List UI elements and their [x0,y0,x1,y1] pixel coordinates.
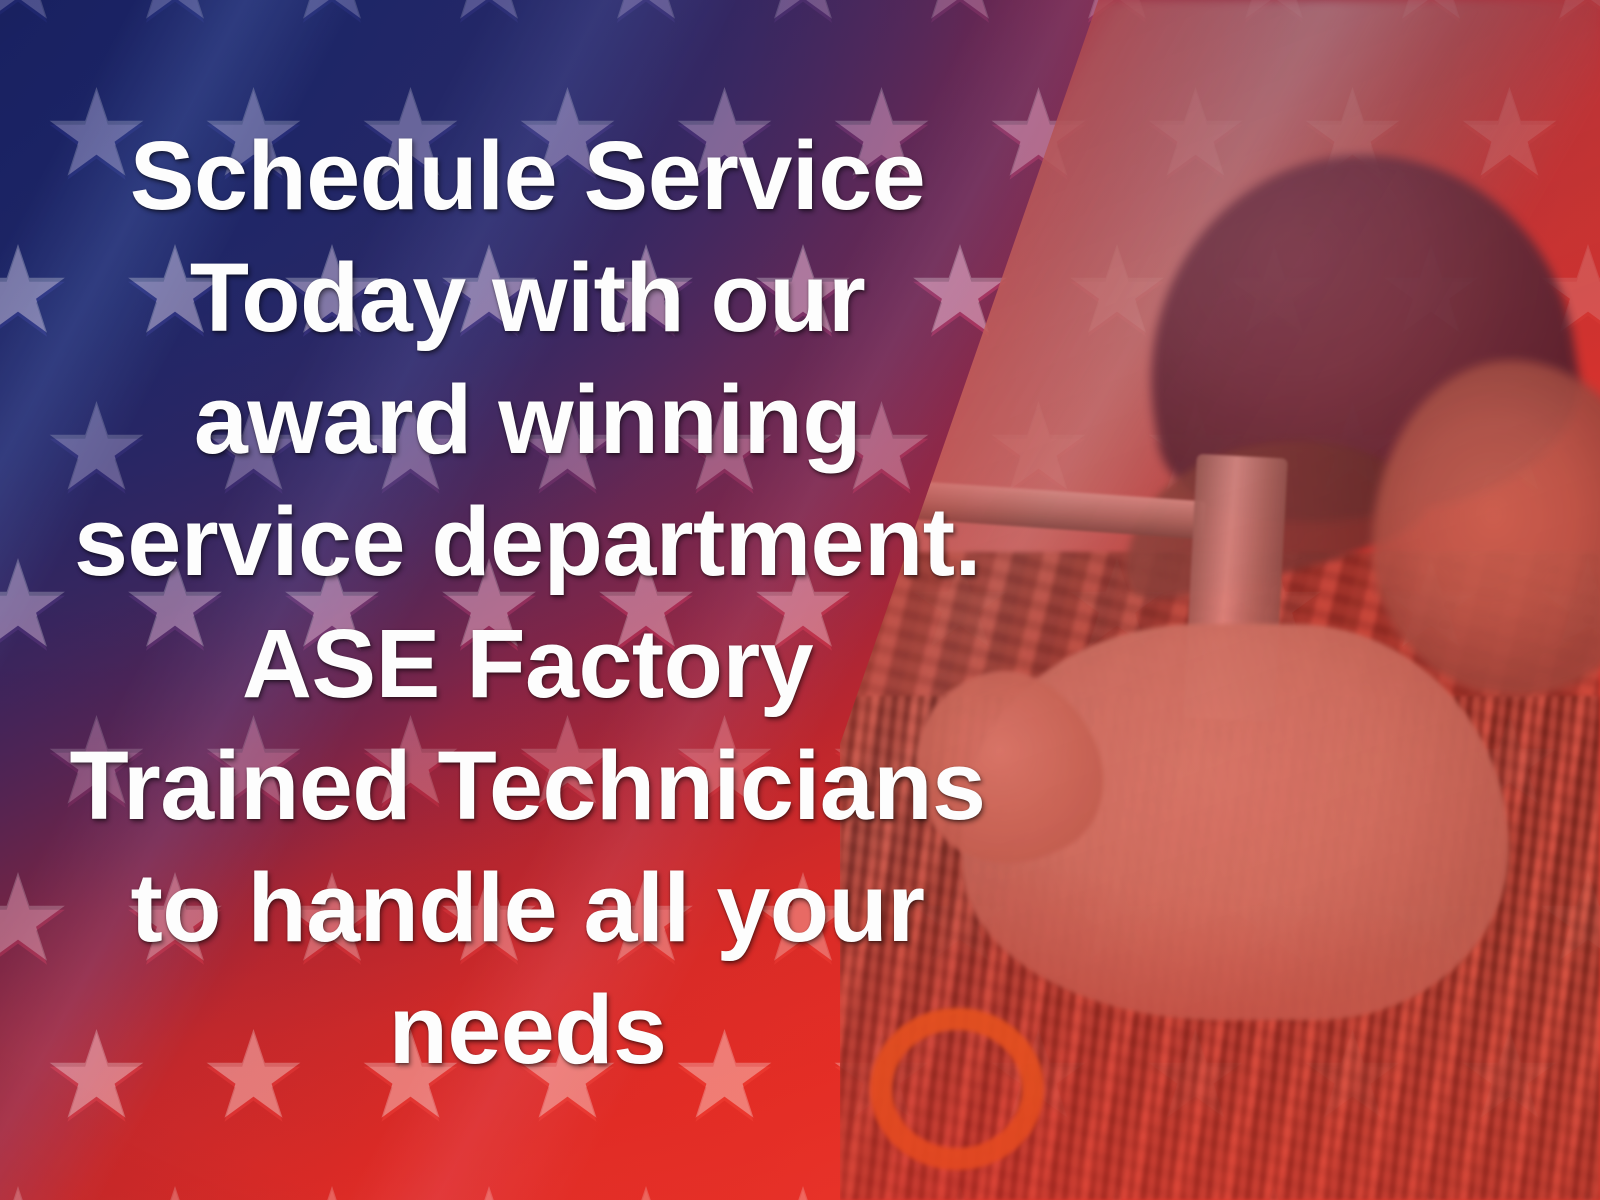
headline: Schedule Service Today with our award wi… [0,0,1055,1200]
headline-line: Today with our [190,237,866,359]
headline-line: Trained Technicians [70,725,986,847]
promo-banner: Schedule Service Today with our award wi… [0,0,1600,1200]
headline-line: needs [389,969,667,1091]
headline-line: award winning [194,359,861,481]
headline-line: to handle all your [130,847,924,969]
headline-line: service department. [74,481,981,603]
headline-line: Schedule Service [130,115,925,237]
headline-line: ASE Factory [242,603,813,725]
